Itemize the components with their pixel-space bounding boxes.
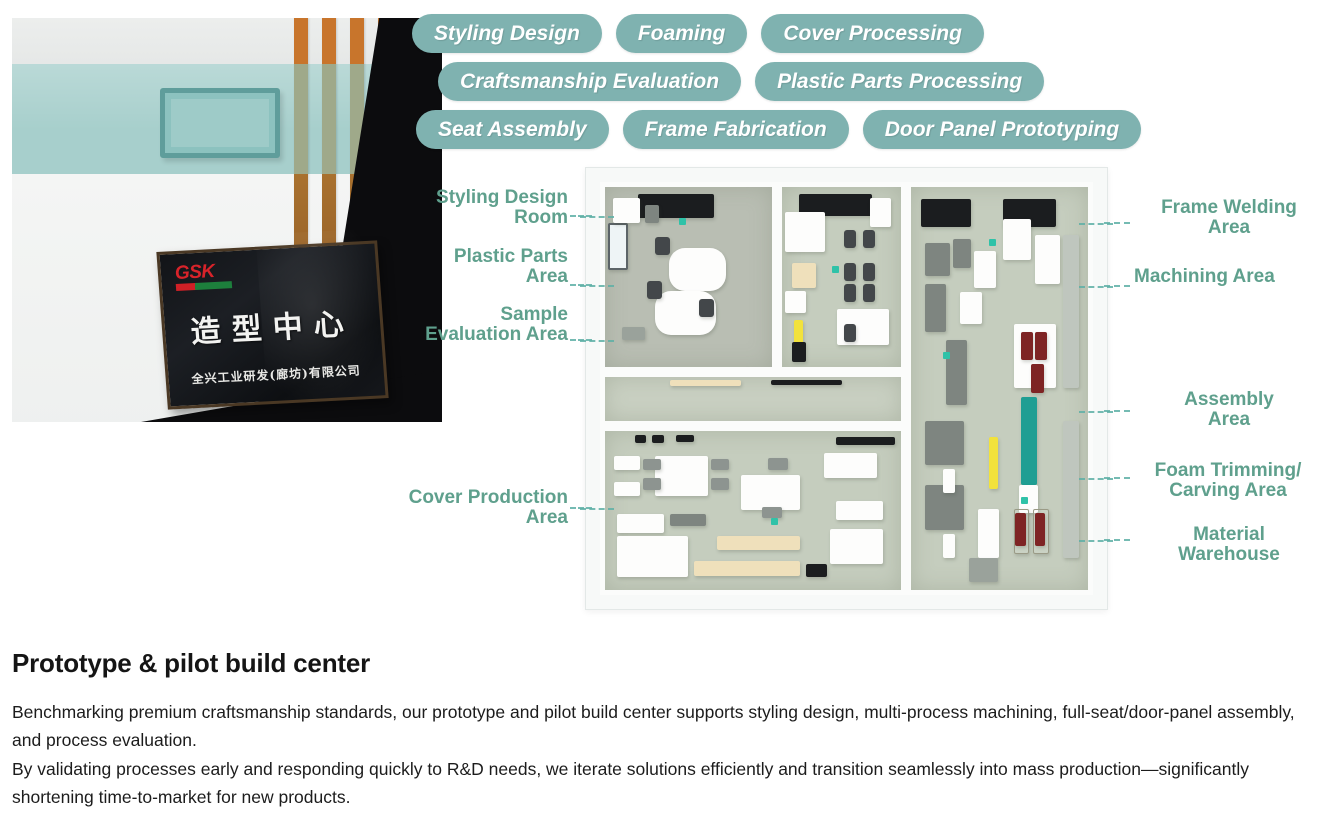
label-plastic-parts-area[interactable]: Plastic Parts Area xyxy=(380,247,568,287)
connector-foam-trimming xyxy=(1104,477,1130,479)
material-rack xyxy=(792,263,816,288)
chair xyxy=(863,284,875,302)
cart xyxy=(960,292,981,324)
workstation xyxy=(953,239,971,267)
clay-model-buck xyxy=(669,248,726,291)
pill-craftsmanship-evaluation[interactable]: Craftsmanship Evaluation xyxy=(438,62,741,101)
label-line: Machining Area xyxy=(1134,267,1324,287)
pill-seat-assembly[interactable]: Seat Assembly xyxy=(416,110,609,149)
floor-marking xyxy=(670,380,741,386)
facility-floorplan xyxy=(585,167,1108,610)
chair xyxy=(643,478,661,489)
floor-marking xyxy=(771,380,842,385)
welding-table xyxy=(925,284,946,332)
label-line: Sample xyxy=(370,305,568,325)
label-line: Room xyxy=(380,208,568,228)
article-paragraph-2: By validating processes early and respon… xyxy=(12,755,1312,812)
pill-row-2: Craftsmanship Evaluation Plastic Parts P… xyxy=(408,62,1198,101)
bin xyxy=(792,342,806,362)
label-line: Area xyxy=(380,267,568,287)
label-line: Foam Trimming/ xyxy=(1130,461,1326,481)
pill-foaming[interactable]: Foaming xyxy=(616,14,748,53)
wall-rack xyxy=(1063,235,1079,388)
photo-wall-shelf xyxy=(160,88,280,158)
stored-part xyxy=(1015,513,1026,545)
wall-unit xyxy=(614,482,641,496)
connector-material-warehouse xyxy=(1104,539,1130,541)
chair xyxy=(647,281,662,299)
cutting-table xyxy=(741,475,800,510)
label-line: Cover Production xyxy=(370,488,568,508)
control-box xyxy=(943,469,955,493)
connector-frame-welding xyxy=(1104,222,1130,224)
cabinet xyxy=(613,198,640,223)
chair xyxy=(844,284,856,302)
cabinet xyxy=(836,501,883,520)
cabinet xyxy=(974,251,995,287)
connector-machining xyxy=(1104,285,1130,287)
chair xyxy=(655,237,670,255)
label-line: Area xyxy=(370,508,568,528)
label-line: Material xyxy=(1134,525,1324,545)
pill-row-1: Styling Design Foaming Cover Processing xyxy=(408,14,1198,53)
control-box xyxy=(943,534,955,558)
chair xyxy=(711,459,729,470)
article-section: Prototype & pilot build center Benchmark… xyxy=(12,648,1312,811)
chair xyxy=(844,324,856,342)
connector-assembly xyxy=(1104,410,1130,412)
chair xyxy=(699,299,714,317)
zone-right-production-hall[interactable] xyxy=(906,182,1093,595)
label-line: Assembly xyxy=(1134,390,1324,410)
workbench xyxy=(785,212,825,252)
storage-unit xyxy=(617,536,688,577)
label-styling-design-room[interactable]: Styling Design Room xyxy=(380,188,568,228)
bin xyxy=(806,564,827,577)
article-paragraph-1: Benchmarking premium craftsmanship stand… xyxy=(12,698,1312,755)
foam-trim-rack xyxy=(1021,397,1037,486)
zone-styling-design-room[interactable] xyxy=(600,182,777,372)
ceiling-light xyxy=(836,437,895,445)
machine xyxy=(670,514,705,527)
lit-display-shelf xyxy=(694,561,800,575)
pill-frame-fabrication[interactable]: Frame Fabrication xyxy=(623,110,849,149)
cabinet xyxy=(785,291,806,313)
sewing-table xyxy=(655,456,708,496)
styling-center-photo: GSK 造型中心 全兴工业研发(廊坊)有限公司 xyxy=(12,18,442,422)
ceiling-fixture xyxy=(676,435,694,441)
connector-plastic-parts xyxy=(570,284,592,286)
label-line: Frame Welding xyxy=(1134,198,1324,218)
chair xyxy=(863,263,875,281)
gsk-wordmark: GSK xyxy=(174,261,231,283)
workbench xyxy=(617,514,664,533)
cnc-machine xyxy=(925,421,964,465)
ceiling-fixture xyxy=(652,435,664,443)
cabinet xyxy=(1035,235,1060,283)
pill-door-panel-prototyping[interactable]: Door Panel Prototyping xyxy=(863,110,1142,149)
zone-marker-dot xyxy=(943,352,950,359)
zone-plastic-parts-area[interactable] xyxy=(777,182,905,372)
cabinet xyxy=(830,529,883,564)
machining-table xyxy=(946,340,967,404)
pill-row-3: Seat Assembly Frame Fabrication Door Pan… xyxy=(408,110,1198,149)
pill-plastic-parts-processing[interactable]: Plastic Parts Processing xyxy=(755,62,1044,101)
label-foam-trimming-carving-area[interactable]: Foam Trimming/ Carving Area xyxy=(1130,461,1326,501)
label-line: Carving Area xyxy=(1130,481,1326,501)
caution-post xyxy=(794,320,802,343)
stored-part xyxy=(1035,513,1046,545)
cabinet xyxy=(870,198,891,227)
page-title: Prototype & pilot build center xyxy=(12,648,1312,679)
process-capability-pills: Styling Design Foaming Cover Processing … xyxy=(408,14,1198,158)
seat-sample xyxy=(1035,332,1047,360)
chair xyxy=(844,263,856,281)
equipment xyxy=(645,205,658,223)
label-sample-evaluation-area[interactable]: Sample Evaluation Area xyxy=(370,305,568,345)
label-line: Area xyxy=(1134,218,1324,238)
page-root: GSK 造型中心 全兴工业研发(廊坊)有限公司 Styling Design F… xyxy=(0,0,1328,827)
trolley xyxy=(622,327,645,340)
ceiling-fixture xyxy=(635,435,647,443)
seat-sample xyxy=(1021,332,1033,360)
chair xyxy=(844,230,856,248)
zone-sample-evaluation-area[interactable] xyxy=(600,372,906,426)
seat-sample xyxy=(1031,364,1043,392)
safety-post xyxy=(989,437,998,489)
chair xyxy=(768,458,789,471)
chair xyxy=(762,507,783,518)
label-line: Styling Design xyxy=(380,188,568,208)
label-assembly-area[interactable]: Assembly Area xyxy=(1134,390,1324,430)
workstation xyxy=(925,243,950,275)
zone-marker-dot xyxy=(679,218,686,225)
chair xyxy=(711,478,729,489)
zone-marker-dot xyxy=(771,518,778,525)
ceiling-light xyxy=(921,199,971,227)
floorplan-interior xyxy=(600,182,1093,595)
wall-unit xyxy=(614,456,641,470)
cabinet xyxy=(1003,219,1031,259)
gsk-plaque: GSK 造型中心 全兴工业研发(廊坊)有限公司 xyxy=(156,240,388,409)
panel-stack xyxy=(978,509,999,557)
label-frame-welding-area[interactable]: Frame Welding Area xyxy=(1134,198,1324,238)
label-cover-production-area[interactable]: Cover Production Area xyxy=(370,488,568,528)
window xyxy=(608,223,628,270)
label-line: Evaluation Area xyxy=(370,325,568,345)
cabinet xyxy=(824,453,877,478)
zone-marker-dot xyxy=(989,239,996,246)
loading-pad xyxy=(969,558,997,582)
connector-sample-eval xyxy=(570,339,592,341)
zone-marker-dot xyxy=(1021,497,1028,504)
connector-cover-production xyxy=(570,507,592,509)
label-line: Plastic Parts xyxy=(380,247,568,267)
chair xyxy=(863,230,875,248)
label-line: Area xyxy=(1134,410,1324,430)
pill-styling-design[interactable]: Styling Design xyxy=(412,14,602,53)
label-material-warehouse[interactable]: Material Warehouse xyxy=(1134,525,1324,565)
chair xyxy=(643,459,661,470)
lit-display-shelf xyxy=(717,536,800,550)
label-line: Warehouse xyxy=(1134,545,1324,565)
zone-cover-production-area[interactable] xyxy=(600,426,906,595)
zone-marker-dot xyxy=(832,266,839,273)
wall-rack xyxy=(1063,421,1079,558)
label-machining-area[interactable]: Machining Area xyxy=(1134,267,1324,287)
photo-shelf-inner xyxy=(171,99,269,147)
connector-styling-design xyxy=(570,215,592,217)
gsk-logo: GSK xyxy=(174,261,232,291)
pill-cover-processing[interactable]: Cover Processing xyxy=(761,14,984,53)
